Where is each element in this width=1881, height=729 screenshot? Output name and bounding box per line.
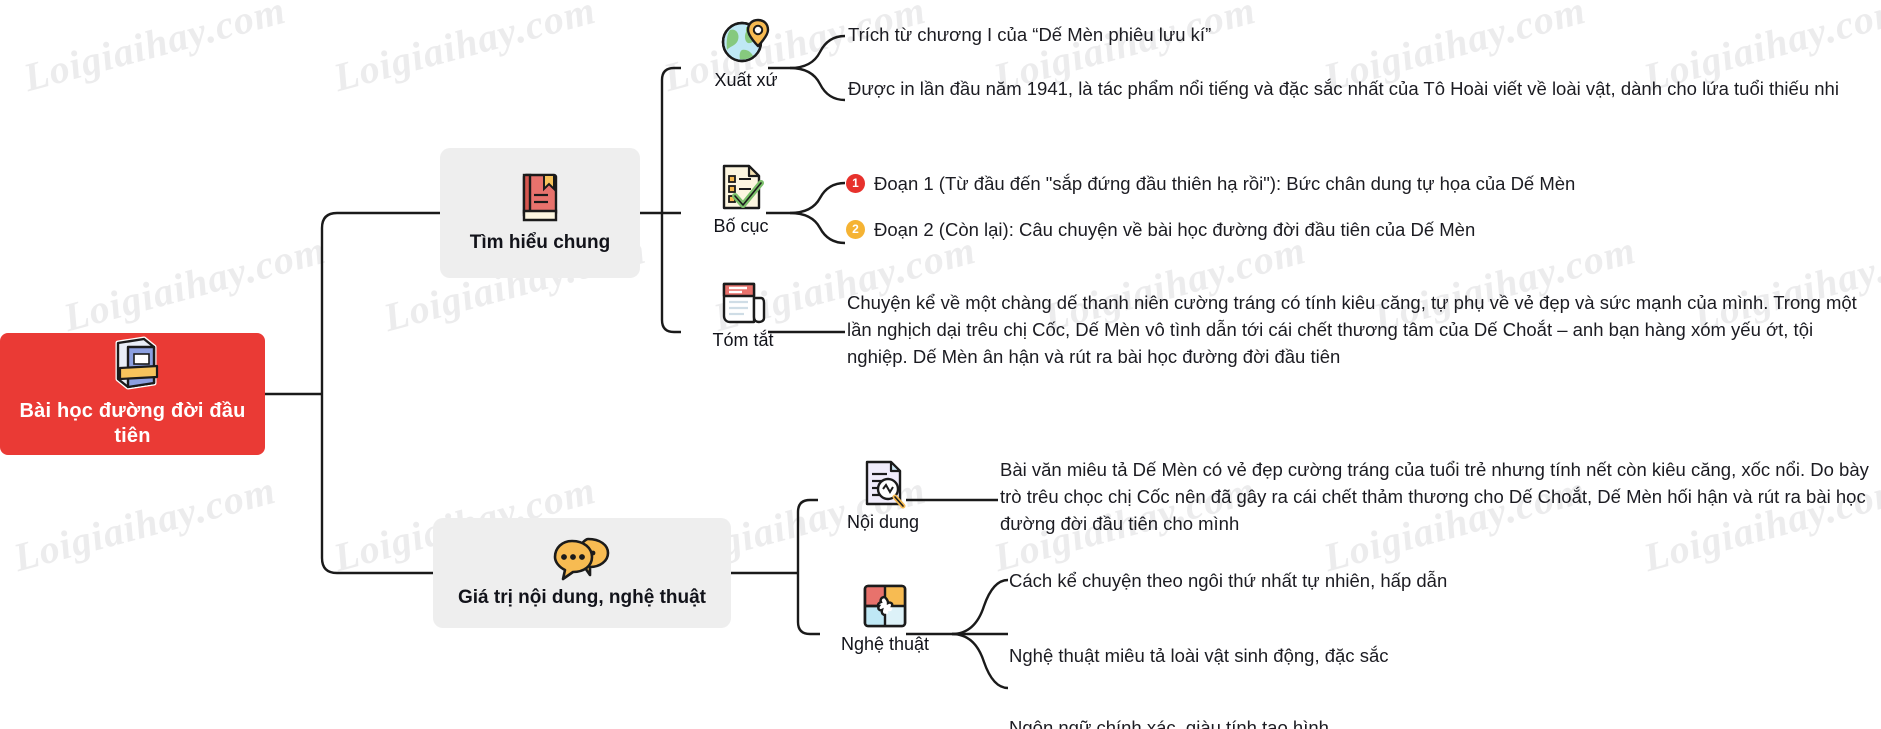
connector-branch2-to-nghethuat: [798, 573, 820, 634]
branch-node-tim-hieu-chung[interactable]: Tìm hiểu chung: [440, 148, 640, 278]
leaf-text-xuatxu-1: Trích từ chương I của “Dế Mèn phiêu lưu …: [848, 22, 1448, 49]
leaf-text-nghethuat-3: Ngôn ngữ chính xác, giàu tính tạo hình: [1009, 715, 1709, 729]
leaf-text-noidung: Bài văn miêu tả Dế Mèn có vẻ đẹp cường t…: [1000, 457, 1880, 537]
connector-nghethuat-item1: [952, 580, 1008, 634]
branch-title: Giá trị nội dung, nghệ thuật: [458, 587, 706, 609]
branch-node-gia-tri-noi-dung-nghe-thuat[interactable]: Giá trị nội dung, nghệ thuật: [433, 518, 731, 628]
red-book-icon: [516, 170, 564, 226]
watermark: Loigiaihay.com: [329, 0, 601, 101]
watermark: Loigiaihay.com: [59, 226, 331, 341]
newspaper-icon: [716, 278, 770, 328]
watermark: Loigiaihay.com: [9, 466, 281, 581]
puzzle-icon: [859, 580, 911, 632]
branch-title: Tìm hiểu chung: [470, 232, 610, 254]
category-label: Nội dung: [847, 512, 919, 533]
leaf-text-bocuc-2: Đoạn 2 (Còn lại): Câu chuyện về bài học …: [874, 217, 1475, 244]
leaf-text-bocuc-1: Đoạn 1 (Từ đầu đến "sắp đứng đầu thiên h…: [874, 171, 1575, 198]
category-noi-dung[interactable]: Nội dung: [818, 458, 948, 533]
blue-book-icon: [106, 335, 160, 391]
speech-bubbles-icon: [552, 535, 612, 581]
category-bo-cuc[interactable]: Bố cục: [676, 162, 806, 237]
root-title: Bài học đường đời đầu tiên: [10, 399, 255, 449]
root-node[interactable]: Bài học đường đời đầu tiên: [0, 333, 265, 455]
number-badge-2: 2: [846, 220, 865, 239]
number-badge-1: 1: [846, 174, 865, 193]
connector-root-to-branch2: [322, 394, 433, 573]
leaf-item-bocuc-1: 1 Đoạn 1 (Từ đầu đến "sắp đứng đầu thiên…: [846, 171, 1846, 198]
connector-branch2-to-noidung: [798, 500, 818, 573]
mindmap-canvas: Loigiaihay.com Loigiaihay.com Loigiaihay…: [0, 0, 1881, 729]
category-tom-tat[interactable]: Tóm tắt: [678, 278, 808, 351]
connector-root-to-branch1: [322, 213, 440, 394]
leaf-text-nghethuat-2: Nghệ thuật miêu tả loài vật sinh động, đ…: [1009, 643, 1709, 670]
checklist-document-icon: [715, 162, 767, 214]
leaf-text-tomtat: Chuyện kể về một chàng dế thanh niên cườ…: [847, 290, 1877, 370]
document-search-icon: [857, 458, 909, 510]
category-label: Nghệ thuật: [841, 634, 929, 655]
category-label: Xuất xứ: [714, 70, 777, 91]
leaf-text-nghethuat-1: Cách kể chuyện theo ngôi thứ nhất tự nhi…: [1009, 568, 1709, 595]
category-label: Bố cục: [713, 216, 768, 237]
category-label: Tóm tắt: [712, 330, 773, 351]
category-xuat-xu[interactable]: Xuất xứ: [681, 16, 811, 91]
category-nghe-thuat[interactable]: Nghệ thuật: [820, 580, 950, 655]
globe-location-icon: [718, 16, 774, 68]
watermark: Loigiaihay.com: [19, 0, 291, 101]
leaf-text-xuatxu-2: Được in lần đầu năm 1941, là tác phẩm nổ…: [848, 76, 1848, 103]
leaf-item-bocuc-2: 2 Đoạn 2 (Còn lại): Câu chuyện về bài họ…: [846, 217, 1846, 244]
connector-nghethuat-item3: [952, 634, 1008, 688]
